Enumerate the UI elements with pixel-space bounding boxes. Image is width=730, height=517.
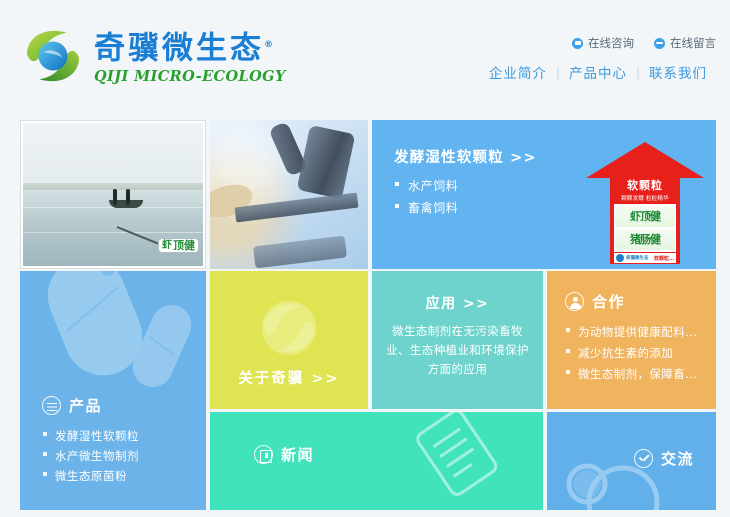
logo-title-cn-text: 奇骥微生态 — [94, 31, 264, 67]
chat-bubble-icon — [572, 38, 583, 49]
product-title[interactable]: 产品 — [69, 395, 102, 416]
communication-tile[interactable]: 交流 — [547, 412, 716, 510]
document-icon — [407, 412, 511, 508]
logo-title-cn: 奇骥微生态® — [94, 27, 286, 66]
arrow-product-panel: 虾顶健 猪肠健 — [614, 204, 676, 252]
product-list-item[interactable]: 水产微生物制剂 — [55, 448, 139, 464]
nav-item-company[interactable]: 企业简介 — [480, 62, 556, 82]
brand-logo-icon — [616, 254, 624, 262]
logo-title-en: QIJI MICRO-ECOLOGY — [94, 68, 286, 85]
product-arrow-graphic: 软颗粒 颗颗发酵 粒粒精华 虾顶健 猪肠健 奇骥微生态 软颗粒… — [586, 142, 704, 264]
hero-product-tile[interactable]: 发酵湿性软颗粒 >> 水产饲料 畜禽饲料 软颗粒 颗颗发酵 粒粒精华 虾顶健 猪… — [372, 120, 716, 269]
pond-sky — [23, 123, 203, 186]
list-circle-icon — [42, 396, 61, 415]
cooperation-list-item[interactable]: 微生态制剂，保障畜... — [578, 366, 708, 382]
product-label-1-text: 虾顶健 — [630, 211, 660, 223]
watermark-text-2: 顶健 — [173, 240, 195, 251]
cooperation-title[interactable]: 合作 — [592, 291, 625, 312]
news-circle-icon — [254, 445, 273, 464]
news-title[interactable]: 新闻 — [281, 444, 314, 465]
product-list-item[interactable]: 微生态原菌粉 — [55, 468, 139, 484]
about-tile[interactable]: 关于奇骥 >> — [210, 271, 368, 409]
cooperation-list-item[interactable]: 减少抗生素的添加 — [578, 345, 708, 361]
arrow-brand-footer: 奇骥微生态 软颗粒… — [614, 253, 676, 263]
hero-list-item[interactable]: 水产饲料 — [408, 177, 537, 194]
news-tile[interactable]: 新闻 — [210, 412, 543, 510]
product-label-2: 猪肠健 — [615, 229, 675, 250]
microscope-objective — [297, 125, 356, 199]
registered-mark: ® — [264, 40, 276, 50]
microscope-photo-tile[interactable] — [210, 120, 368, 269]
arrow-title: 软颗粒 — [613, 179, 677, 192]
qiji-logo-icon — [22, 25, 84, 87]
person-figure — [113, 189, 117, 205]
application-title[interactable]: 应用 >> — [386, 293, 529, 313]
logo-text: 奇骥微生态® QIJI MICRO-ECOLOGY — [94, 27, 286, 84]
nav-item-contact[interactable]: 联系我们 — [640, 62, 716, 82]
message-icon — [654, 38, 665, 49]
communication-heading: 交流 — [634, 448, 694, 469]
page-root: 奇骥微生态® QIJI MICRO-ECOLOGY 在线咨询 在线留言 企业简介… — [0, 0, 730, 517]
online-consult-link[interactable]: 在线咨询 — [572, 35, 634, 51]
product-label-1: 虾顶健 — [615, 206, 675, 227]
photo-watermark-logo: 虾 顶健 — [159, 239, 198, 252]
main-nav: 企业简介 | 产品中心 | 联系我们 — [480, 62, 716, 82]
hero-list-item[interactable]: 畜禽饲料 — [408, 199, 537, 216]
brand-name: 奇骥微生态 — [626, 255, 649, 261]
application-text-block: 应用 >> 微生态制剂在无污染畜牧业、生态种植业和环境保护方面的应用 — [386, 293, 529, 379]
person-circle-icon — [565, 292, 584, 311]
cooperation-list-item[interactable]: 为动物提供健康配料... — [578, 324, 708, 340]
about-title[interactable]: 关于奇骥 >> — [210, 367, 368, 388]
cooperation-tile[interactable]: 合作 为动物提供健康配料... 减少抗生素的添加 微生态制剂，保障畜... — [547, 271, 716, 409]
person-figure — [126, 189, 130, 205]
product-heading: 产品 — [42, 395, 139, 416]
online-message-link[interactable]: 在线留言 — [654, 35, 716, 51]
product-text-block: 产品 发酵湿性软颗粒 水产微生物制剂 微生态原菌粉 — [42, 395, 139, 488]
arrow-body: 软颗粒 颗颗发酵 粒粒精华 虾顶健 猪肠健 奇骥微生态 软颗粒… — [610, 177, 680, 264]
site-header: 奇骥微生态® QIJI MICRO-ECOLOGY 在线咨询 在线留言 企业简介… — [0, 0, 730, 115]
capsule-icon — [22, 271, 206, 409]
arrow-head-shape — [586, 142, 704, 178]
pond-photo-tile[interactable]: 虾 顶健 — [20, 120, 206, 269]
qiji-logo-watermark-icon — [258, 297, 320, 359]
product-label-2-text: 猪肠健 — [630, 234, 660, 246]
communication-title[interactable]: 交流 — [661, 448, 694, 469]
product-tile[interactable]: 产品 发酵湿性软颗粒 水产微生物制剂 微生态原菌粉 — [20, 271, 206, 510]
microscope-photo-image — [210, 120, 368, 269]
arrow-footer-right: 软颗粒… — [654, 255, 674, 262]
application-tile[interactable]: 应用 >> 微生态制剂在无污染畜牧业、生态种植业和环境保护方面的应用 — [372, 271, 543, 409]
application-body: 微生态制剂在无污染畜牧业、生态种植业和环境保护方面的应用 — [386, 322, 529, 379]
watermark-text-1: 虾 — [162, 240, 172, 251]
header-utility-links: 在线咨询 在线留言 — [572, 35, 716, 51]
hero-title[interactable]: 发酵湿性软颗粒 >> — [394, 146, 537, 167]
news-heading: 新闻 — [254, 444, 314, 465]
cooperation-text-block: 合作 为动物提供健康配料... 减少抗生素的添加 微生态制剂，保障畜... — [565, 291, 708, 387]
nav-item-products[interactable]: 产品中心 — [560, 62, 636, 82]
check-circle-icon — [634, 449, 653, 468]
product-list-item[interactable]: 发酵湿性软颗粒 — [55, 428, 139, 444]
cooperation-heading: 合作 — [565, 291, 708, 312]
content-grid: 虾 顶健 发酵湿性软颗粒 >> 水产饲料 畜禽饲料 — [20, 120, 716, 512]
arrow-subtitle: 颗颗发酵 粒粒精华 — [613, 194, 677, 202]
microscope-stage — [235, 193, 359, 223]
microscope-base — [253, 236, 347, 269]
pond-photo-image: 虾 顶健 — [23, 123, 203, 266]
online-consult-label: 在线咨询 — [588, 35, 634, 51]
online-message-label: 在线留言 — [670, 35, 716, 51]
site-logo[interactable]: 奇骥微生态® QIJI MICRO-ECOLOGY — [22, 25, 286, 87]
hero-text-block: 发酵湿性软颗粒 >> 水产饲料 畜禽饲料 — [394, 146, 537, 221]
